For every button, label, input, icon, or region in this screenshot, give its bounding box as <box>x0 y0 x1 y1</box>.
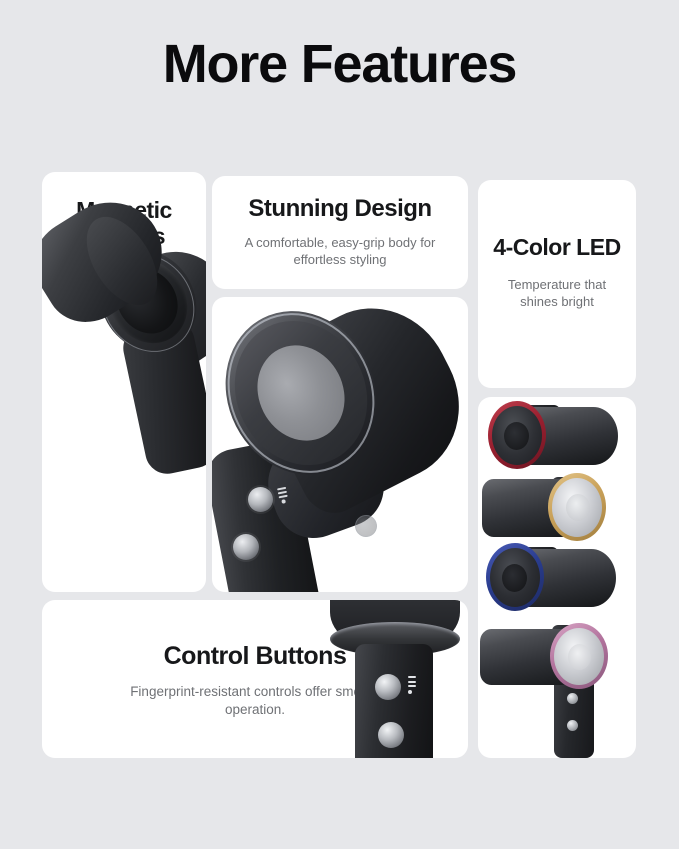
card-heading-four-color-led: 4-Color LED <box>478 235 636 261</box>
led-handle-button-lower <box>567 720 578 731</box>
led-center-pink <box>568 644 591 670</box>
controls-button-upper <box>375 674 401 700</box>
control-buttons-image <box>42 600 468 758</box>
card-led-stack-image <box>478 397 636 758</box>
card-heading-stunning-design: Stunning Design <box>212 196 468 223</box>
hero-power-button <box>248 487 273 512</box>
card-stunning-design: Stunning Design A comfortable, easy-grip… <box>212 176 468 289</box>
feature-infographic: More Features Magnetic Nozzles Streamlin… <box>0 0 679 849</box>
hero-dryer-image <box>212 297 468 592</box>
magnetic-nozzle-image <box>42 172 206 592</box>
card-hero-image <box>212 297 468 592</box>
card-body-four-color-led: Temperature that shines bright <box>478 276 636 310</box>
controls-button-lower <box>378 722 404 748</box>
hero-mode-button <box>233 534 259 560</box>
card-four-color-led: 4-Color LED Temperature that shines brig… <box>478 180 636 388</box>
led-center-blue <box>502 564 527 592</box>
card-body-stunning-design: A comfortable, easy-grip body for effort… <box>212 234 468 268</box>
card-control-buttons: Control Buttons Fingerprint-resistant co… <box>42 600 468 758</box>
card-magnetic-nozzles: Magnetic Nozzles Streamlined design that… <box>42 172 206 592</box>
led-stack-image <box>478 397 636 758</box>
led-center-gold <box>566 494 590 521</box>
page-title: More Features <box>0 36 679 93</box>
led-center-red <box>504 422 529 450</box>
led-handle-button-upper <box>567 693 578 704</box>
controls-indicator-marks <box>408 676 420 696</box>
